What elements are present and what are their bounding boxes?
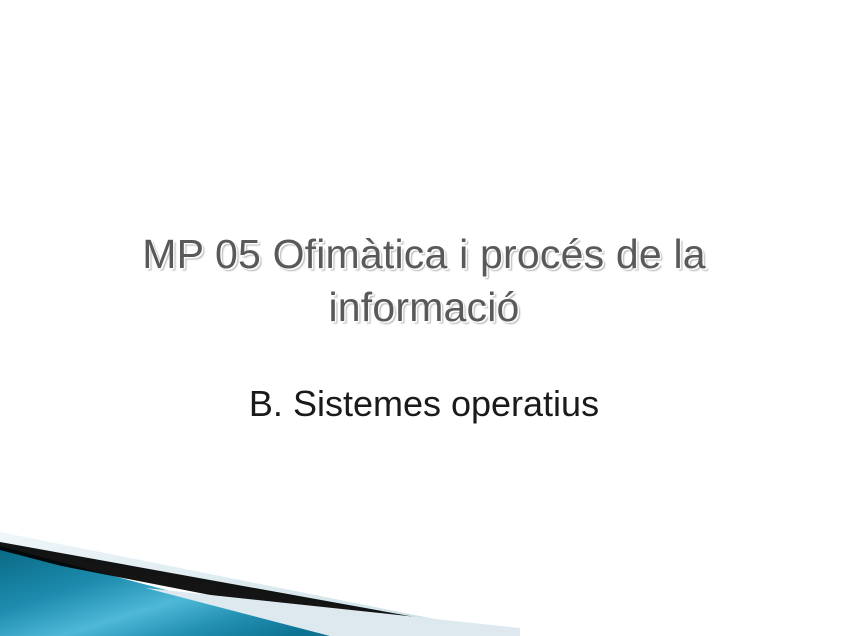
slide-canvas: MP 05 Ofimàtica i procés de la informaci… <box>0 0 848 636</box>
bottom-left-angled-bands-decoration <box>0 524 520 636</box>
title-placeholder: MP 05 Ofimàtica i procés de la informaci… <box>0 228 848 334</box>
page-subtitle: B. Sistemes operatius <box>0 382 848 426</box>
subtitle-placeholder: B. Sistemes operatius <box>0 382 848 426</box>
page-title: MP 05 Ofimàtica i procés de la informaci… <box>0 228 848 334</box>
